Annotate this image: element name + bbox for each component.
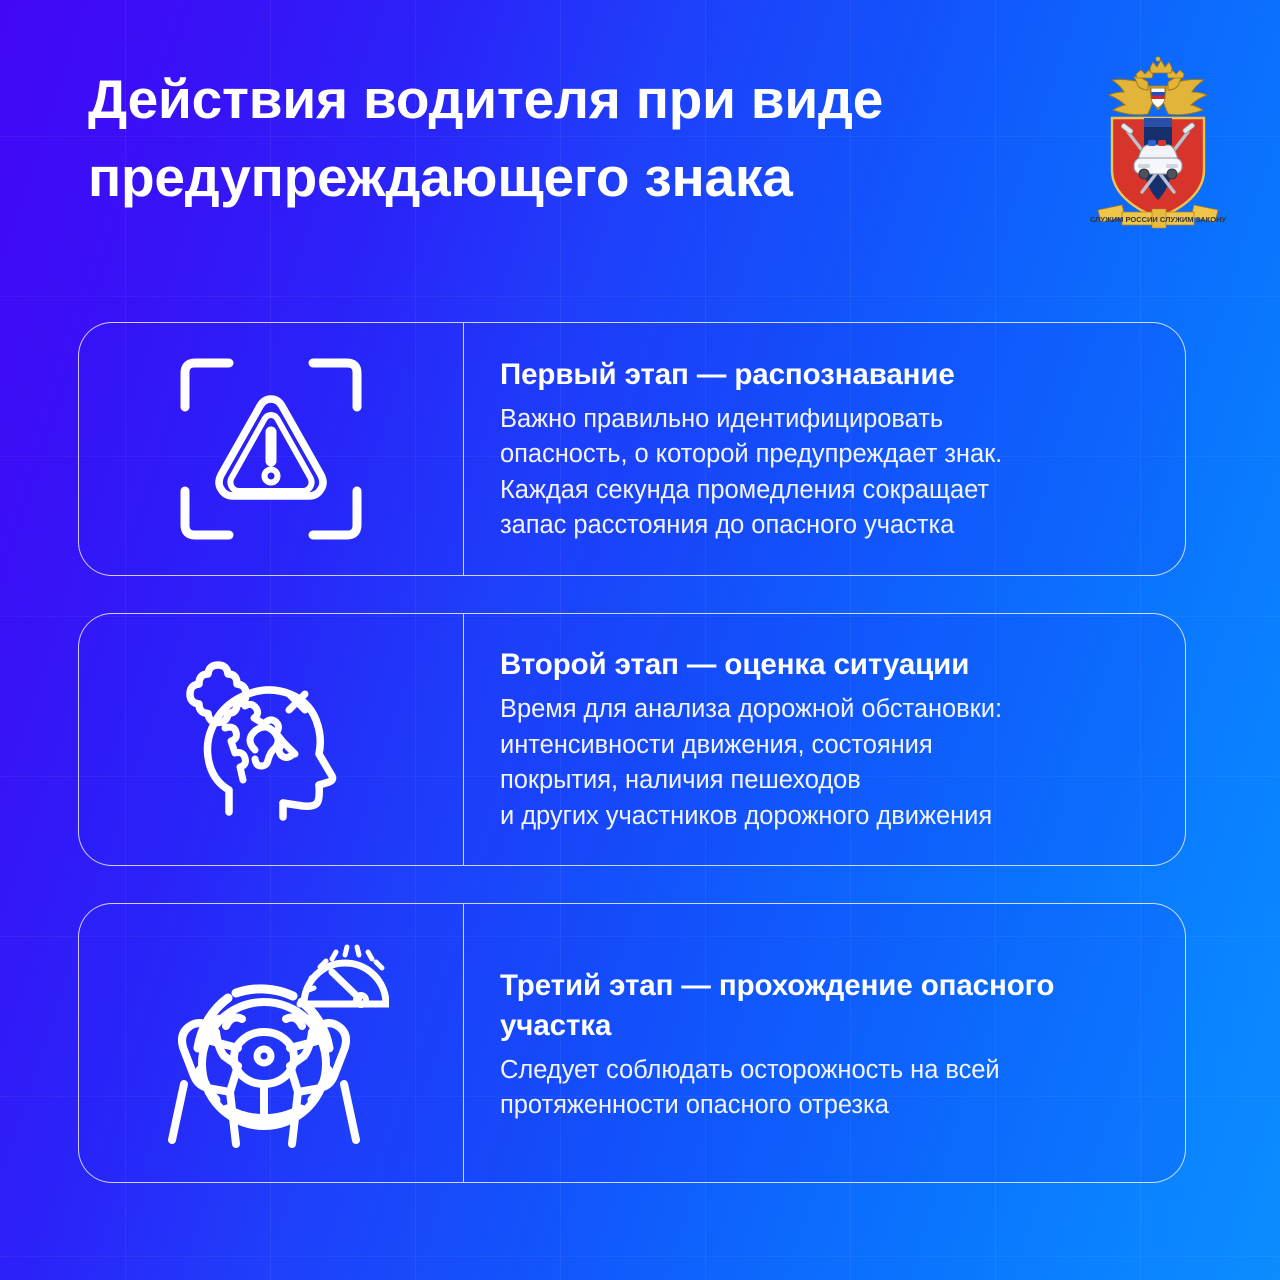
card-icon-cell [79,323,464,575]
card-body: Второй этап — оценка ситуации Время для … [464,614,1185,865]
infographic-poster: Действия водителя при виде предупреждающ… [0,0,1280,1280]
card-heading: Третий этап — прохождение опасного участ… [500,966,1151,1044]
card-body: Третий этап — прохождение опасного участ… [464,904,1185,1182]
card-icon-cell [79,614,464,865]
stage-card: Первый этап — распознавание Важно правил… [78,322,1186,576]
eagle-icon [1109,57,1207,115]
card-icon-cell [79,904,464,1182]
emblem-ribbon-text: СЛУЖИМ РОССИИ СЛУЖИМ ЗАКОНУ [1090,215,1227,224]
steering-wheel-speedometer-icon [154,936,389,1151]
stage-card: Второй этап — оценка ситуации Время для … [78,613,1186,866]
card-body: Первый этап — распознавание Важно правил… [464,323,1185,575]
warning-sign-scan-icon [171,349,371,549]
card-heading: Второй этап — оценка ситуации [500,645,1151,684]
mvd-gibdd-emblem: СЛУЖИМ РОССИИ СЛУЖИМ ЗАКОНУ [1088,52,1228,237]
card-text: Следует соблюдать осторожность на всей п… [500,1053,1151,1124]
steering-wheel-icon [198,988,329,1125]
stage-card-list: Первый этап — распознавание Важно правил… [78,322,1186,1183]
card-heading: Первый этап — распознавание [500,355,1151,394]
card-text: Важно правильно идентифицировать опаснос… [500,402,1151,544]
poster-header: Действия водителя при виде предупреждающ… [0,0,1280,300]
speedometer-icon [300,947,389,1005]
card-text: Время для анализа дорожной обстановки: и… [500,692,1151,834]
head-puzzle-thinking-icon [169,640,374,840]
page-title: Действия водителя при виде предупреждающ… [88,60,988,216]
stage-card: Третий этап — прохождение опасного участ… [78,903,1186,1183]
